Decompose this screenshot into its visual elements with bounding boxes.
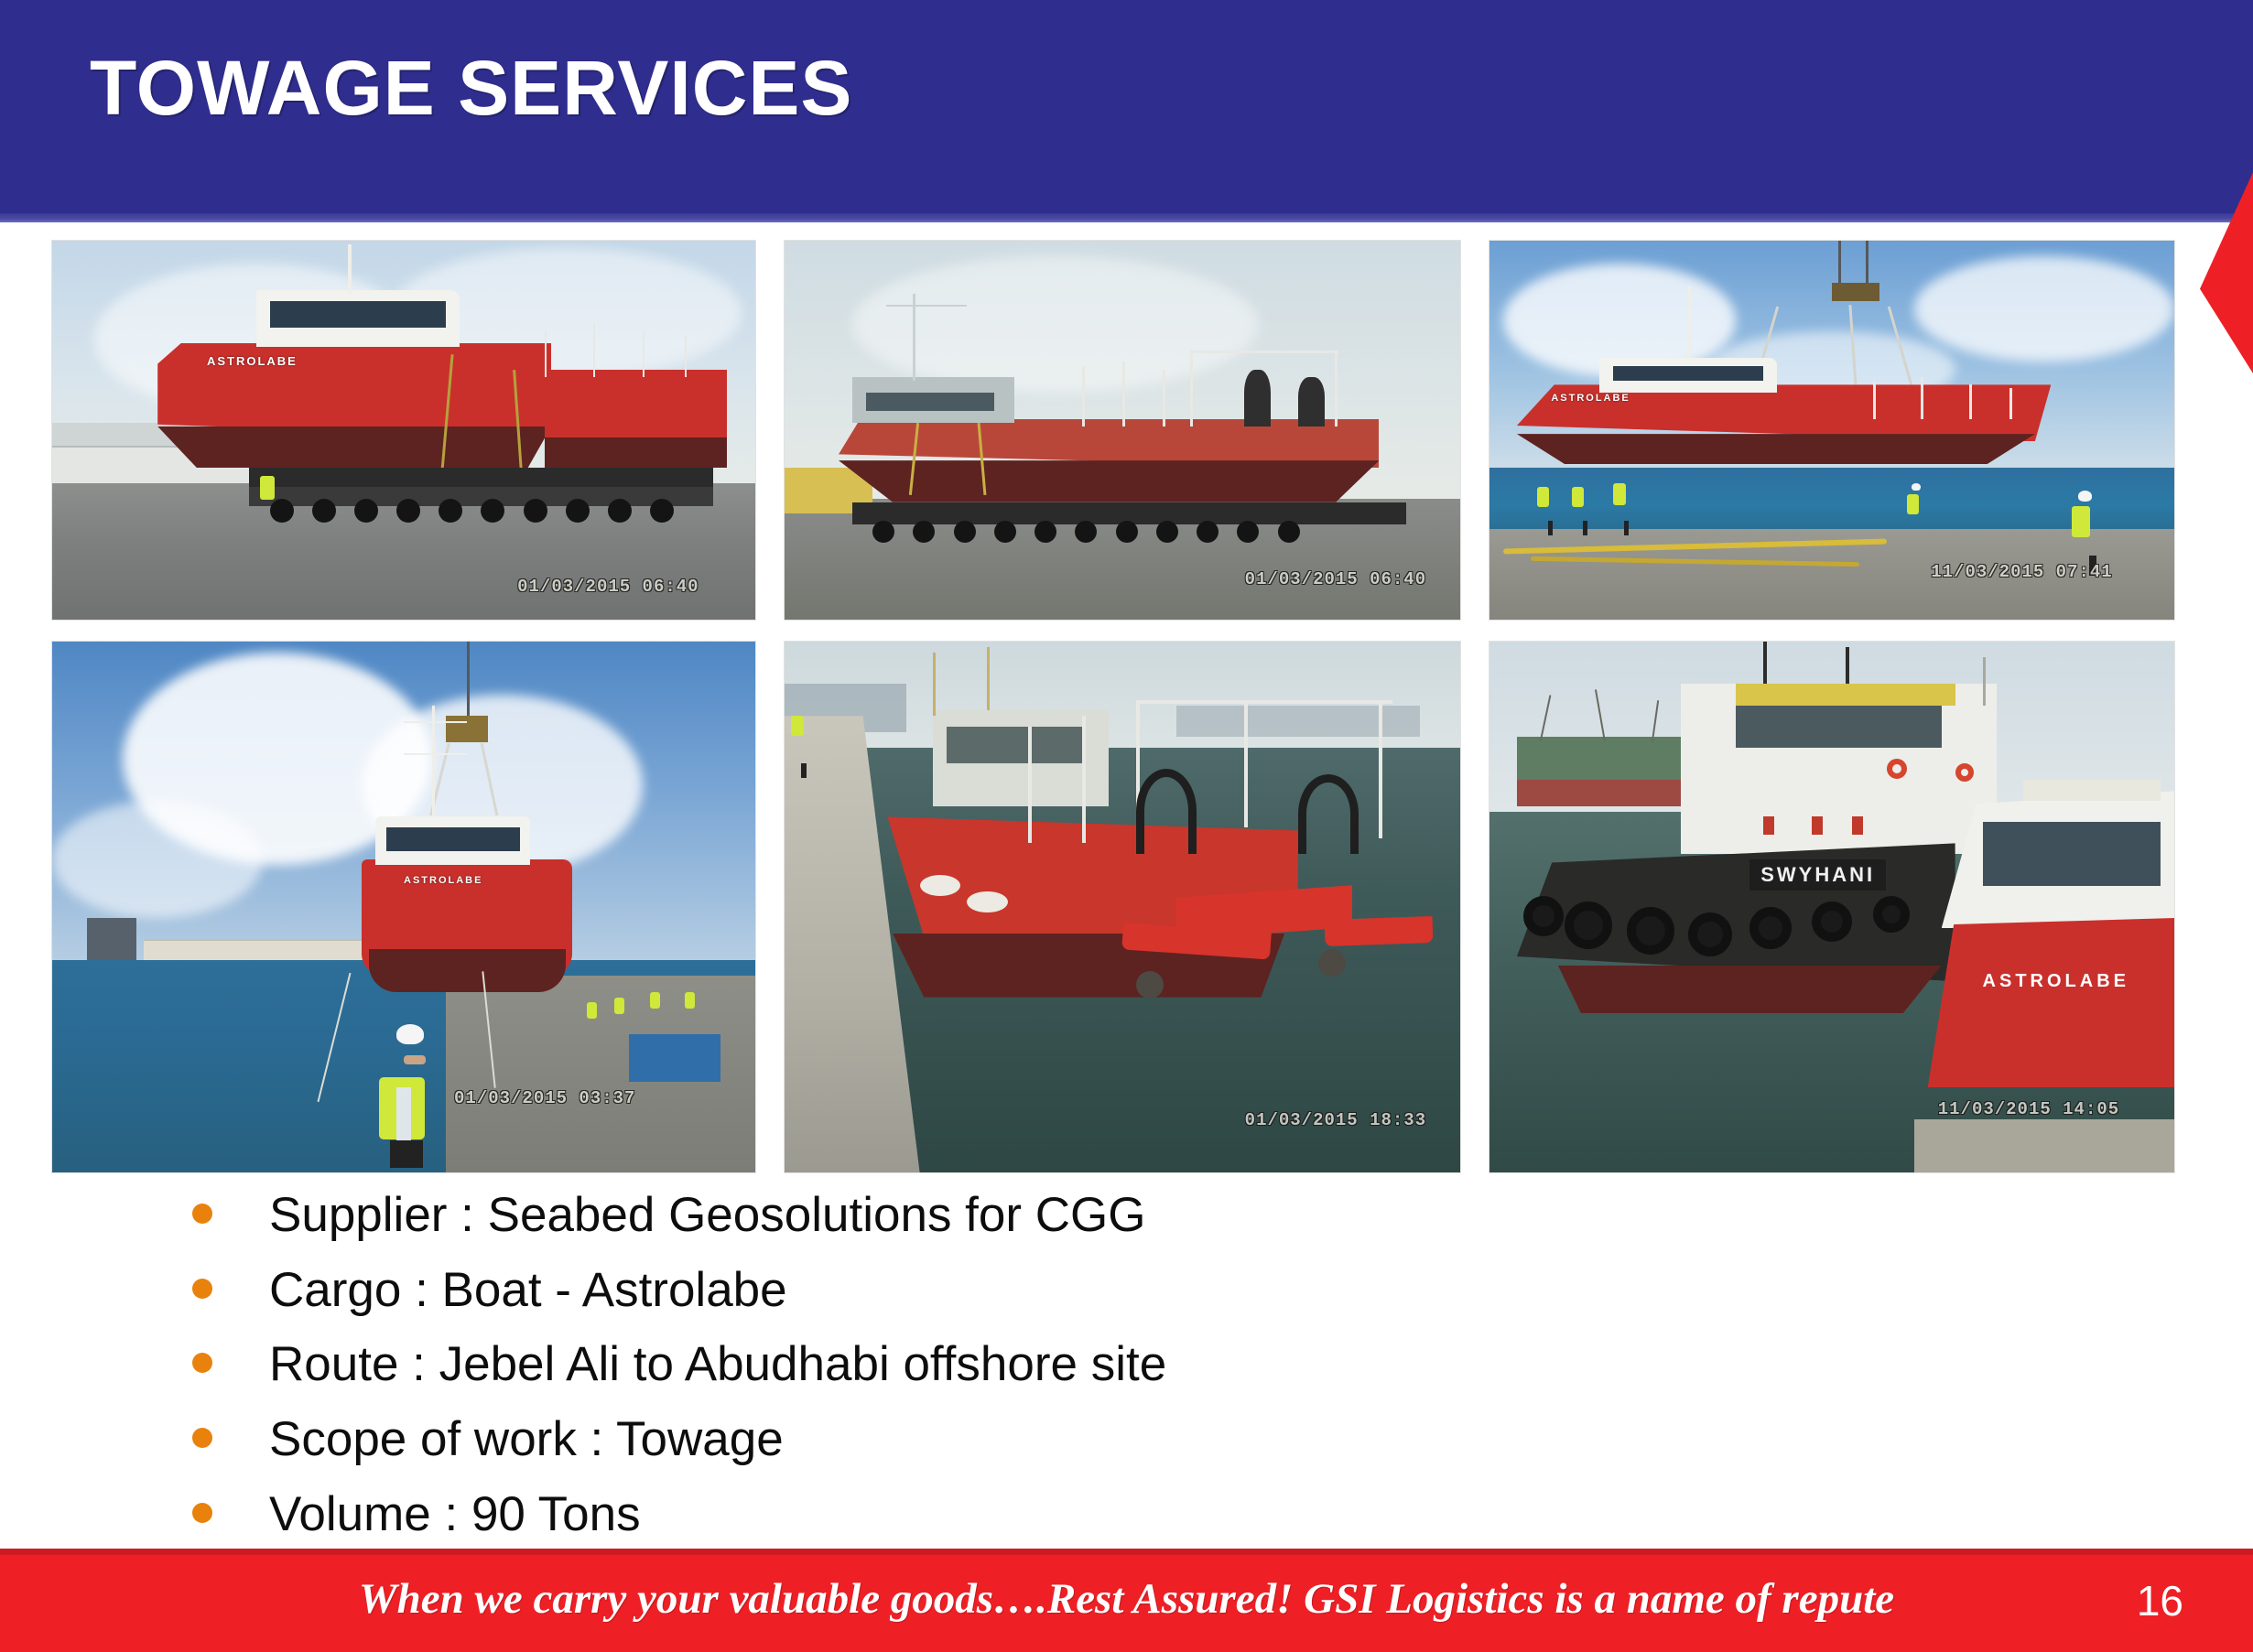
list-item: Route : Jebel Ali to Abudhabi offshore s… bbox=[192, 1339, 1932, 1390]
photo-timestamp-6: 11/03/2015 14:05 bbox=[1938, 1099, 2119, 1119]
list-item: Cargo : Boat - Astrolabe bbox=[192, 1265, 1932, 1316]
list-item: Volume : 90 Tons bbox=[192, 1489, 1932, 1540]
photo-timestamp-2: 01/03/2015 06:40 bbox=[1245, 569, 1426, 589]
bullet-dot-icon bbox=[192, 1353, 212, 1373]
bullet-dot-icon bbox=[192, 1428, 212, 1448]
footer-divider bbox=[0, 1549, 2253, 1555]
photo-top-left: ASTROLABE 01/03/2015 06:40 bbox=[51, 240, 756, 621]
bullet-dot-icon bbox=[192, 1279, 212, 1299]
page-number: 16 bbox=[2137, 1576, 2183, 1625]
bullet-label-route: Route : Jebel Ali to Abudhabi offshore s… bbox=[269, 1339, 1166, 1390]
bullet-dot-icon bbox=[192, 1503, 212, 1523]
footer-tagline: When we carry your valuable goods….Rest … bbox=[0, 1574, 2253, 1624]
vessel-name-label-4: ASTROLABE bbox=[404, 875, 482, 886]
photo-row-top: ASTROLABE 01/03/2015 06:40 bbox=[51, 240, 2175, 621]
bullet-dot-icon bbox=[192, 1204, 212, 1224]
photo-top-center: 01/03/2015 06:40 bbox=[784, 240, 1461, 621]
vessel-name-label-1: ASTROLABE bbox=[207, 354, 298, 368]
photo-bottom-right: SWYHANI ASTROLABE 11/03/2015 14:05 bbox=[1489, 641, 2175, 1173]
bullet-list: Supplier : Seabed Geosolutions for CGG C… bbox=[192, 1190, 1932, 1563]
vessel-name-label-6: ASTROLABE bbox=[1983, 971, 2129, 992]
page-title: TOWAGE SERVICES bbox=[90, 44, 852, 133]
photo-timestamp-3: 11/03/2015 07:41 bbox=[1931, 562, 2112, 582]
photo-bottom-left: ASTROLABE 01/03/2015 03:37 bbox=[51, 641, 756, 1173]
bullet-label-scope: Scope of work : Towage bbox=[269, 1414, 784, 1465]
photo-top-right: ASTROLABE 11/03/2015 07:41 bbox=[1489, 240, 2175, 621]
header-sheen-divider bbox=[0, 213, 2253, 222]
photo-timestamp-5: 01/03/2015 18:33 bbox=[1245, 1110, 1426, 1130]
photo-row-bottom: ASTROLABE 01/03/2015 03:37 bbox=[51, 641, 2175, 1173]
list-item: Supplier : Seabed Geosolutions for CGG bbox=[192, 1190, 1932, 1241]
tug-name-label: SWYHANI bbox=[1749, 859, 1886, 891]
bullet-label-supplier: Supplier : Seabed Geosolutions for CGG bbox=[269, 1190, 1145, 1241]
vessel-name-label-3: ASTROLABE bbox=[1551, 393, 1630, 404]
list-item: Scope of work : Towage bbox=[192, 1414, 1932, 1465]
photo-bottom-center: 01/03/2015 18:33 bbox=[784, 641, 1461, 1173]
bullet-label-volume: Volume : 90 Tons bbox=[269, 1489, 641, 1540]
photo-timestamp-1: 01/03/2015 06:40 bbox=[517, 577, 699, 597]
photo-timestamp-4: 01/03/2015 03:37 bbox=[454, 1088, 635, 1108]
bullet-label-cargo: Cargo : Boat - Astrolabe bbox=[269, 1265, 787, 1316]
presentation-slide: TOWAGE SERVICES bbox=[0, 0, 2253, 1652]
photo-grid: ASTROLABE 01/03/2015 06:40 bbox=[51, 240, 2175, 1173]
slide-footer-band: When we carry your valuable goods….Rest … bbox=[0, 1549, 2253, 1652]
